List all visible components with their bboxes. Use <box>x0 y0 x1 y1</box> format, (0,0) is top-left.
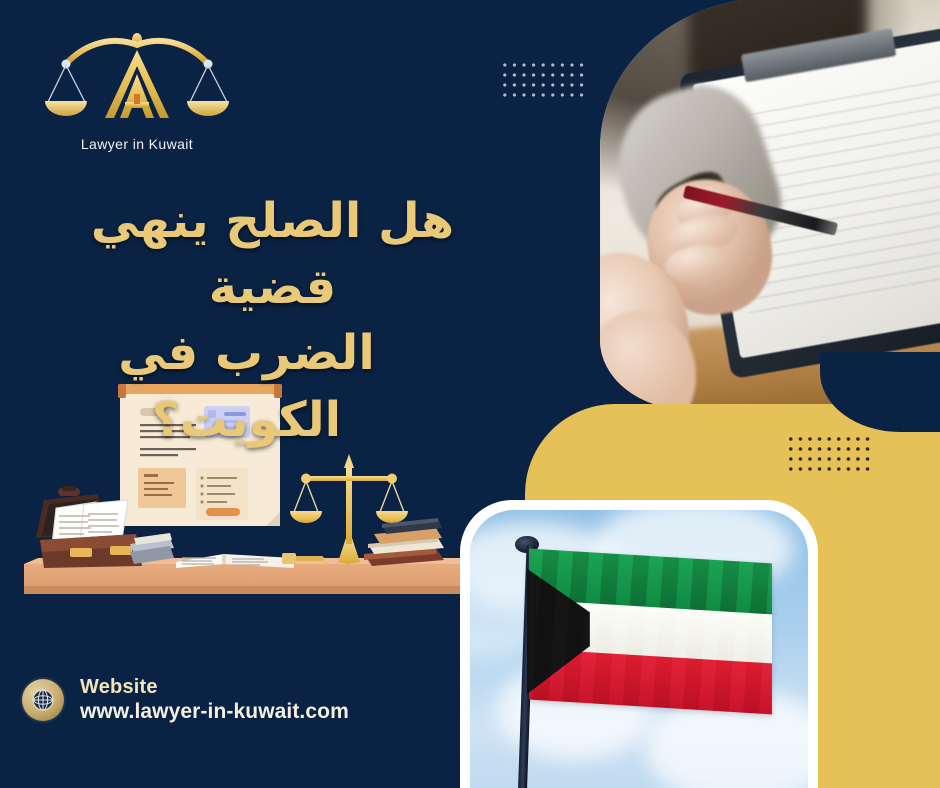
dot-grid-dark <box>784 432 870 472</box>
book-stack-right <box>364 518 444 566</box>
kuwait-flag <box>529 549 772 715</box>
dot-grid-light <box>498 58 584 98</box>
globe-icon <box>22 679 64 721</box>
scales-logo-icon <box>42 32 232 136</box>
lawyer-in-kuwait-scales-logo[interactable]: Lawyer in Kuwait <box>42 32 232 157</box>
kuwait-flag-photo <box>470 510 808 788</box>
logo-caption: Lawyer in Kuwait <box>42 136 232 152</box>
social-post-poster: Lawyer in Kuwait هل الصلح ينهي قضية الضر… <box>0 0 940 788</box>
website-url[interactable]: www.lawyer-in-kuwait.com <box>80 700 349 725</box>
page-title: هل الصلح ينهي قضية الضرب في الكويت؟ <box>20 188 525 453</box>
lawyer-signing-document-photo <box>600 0 940 410</box>
website-footer[interactable]: Website www.lawyer-in-kuwait.com <box>22 676 349 724</box>
globe-glyph <box>31 688 55 712</box>
headline-line-1: هل الصلح ينهي قضية <box>20 188 525 320</box>
website-label: Website <box>80 676 349 700</box>
headline-line-2: الضرب في الكويت؟ <box>20 320 525 452</box>
kuwait-flag-photo-card <box>460 500 818 788</box>
